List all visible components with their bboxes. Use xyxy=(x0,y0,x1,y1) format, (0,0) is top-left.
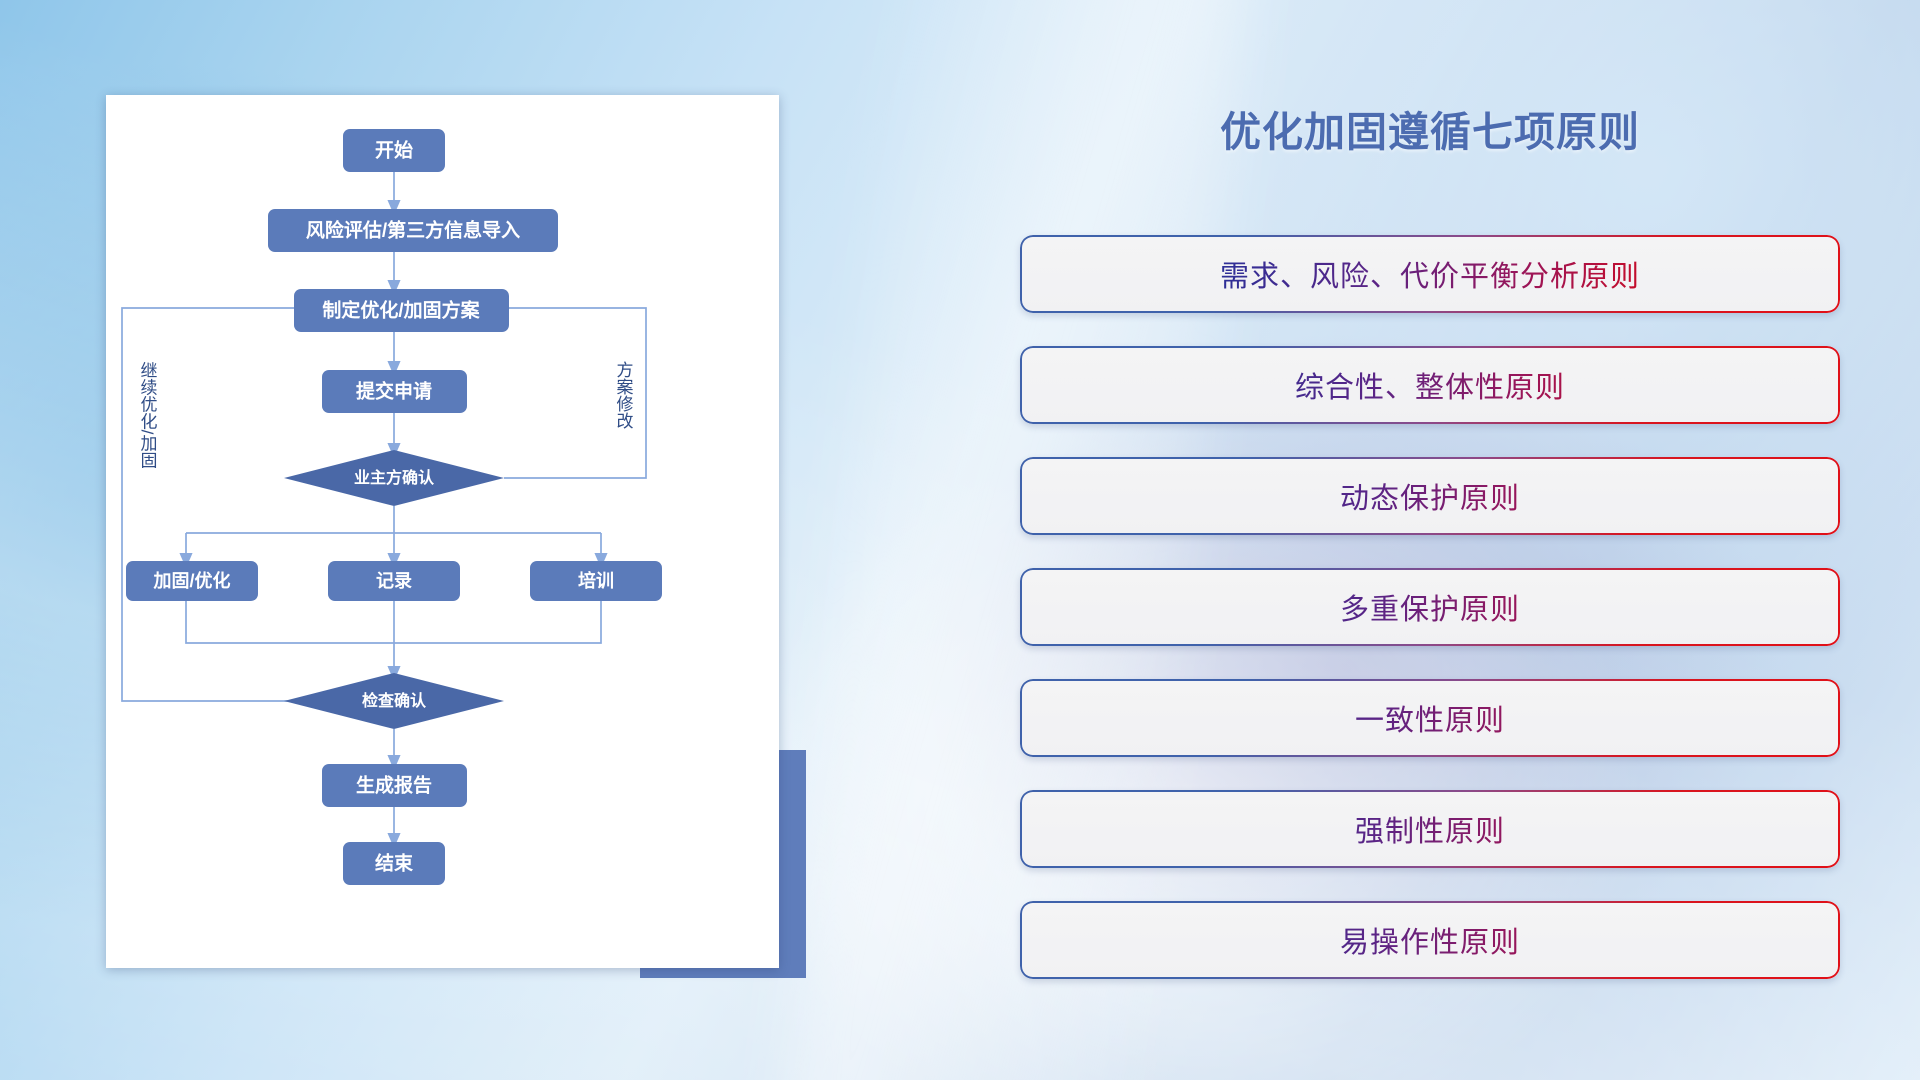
page-title: 优化加固遵循七项原则 xyxy=(1020,98,1840,158)
flow-node-end-label: 结束 xyxy=(375,852,414,875)
flow-node-risk-assessment-label: 风险评估/第三方信息导入 xyxy=(306,219,520,242)
flowchart-diagram: 开始 风险评估/第三方信息导入 制定优化/加固方案 提交申请 业主方确认 加固/… xyxy=(106,95,779,968)
flow-edge-label-continue-optimize: 继续优化/加固 xyxy=(138,362,158,469)
flow-node-start-label: 开始 xyxy=(375,139,413,162)
flow-node-submit-application-label: 提交申请 xyxy=(356,380,432,403)
flow-node-reinforce-optimize-label: 加固/优化 xyxy=(152,570,230,591)
principle-card[interactable]: 多重保护原则 xyxy=(1020,568,1840,646)
principle-card-label: 动态保护原则 xyxy=(1020,457,1840,535)
flow-node-risk-assessment[interactable]: 风险评估/第三方信息导入 xyxy=(268,209,558,252)
flow-node-generate-report[interactable]: 生成报告 xyxy=(322,764,467,807)
flow-node-record-label: 记录 xyxy=(376,571,412,591)
principle-card[interactable]: 综合性、整体性原则 xyxy=(1020,346,1840,424)
principle-card-label: 多重保护原则 xyxy=(1020,568,1840,646)
flow-node-owner-confirm-label: 业主方确认 xyxy=(354,468,435,487)
flow-node-make-plan[interactable]: 制定优化/加固方案 xyxy=(294,289,509,332)
principle-card[interactable]: 一致性原则 xyxy=(1020,679,1840,757)
flow-edge-label-plan-revise: 方案修改 xyxy=(614,361,634,429)
principle-card-label: 易操作性原则 xyxy=(1020,901,1840,979)
principles-card-list: 需求、风险、代价平衡分析原则 综合性、整体性原则 动态保护原则 多重保护原则 一… xyxy=(1020,235,1840,1012)
principle-card[interactable]: 易操作性原则 xyxy=(1020,901,1840,979)
flow-node-reinforce-optimize[interactable]: 加固/优化 xyxy=(126,561,258,601)
principle-card-label: 一致性原则 xyxy=(1020,679,1840,757)
principle-card[interactable]: 强制性原则 xyxy=(1020,790,1840,868)
principle-card[interactable]: 需求、风险、代价平衡分析原则 xyxy=(1020,235,1840,313)
flow-node-end[interactable]: 结束 xyxy=(343,842,445,885)
principle-card[interactable]: 动态保护原则 xyxy=(1020,457,1840,535)
flow-node-generate-report-label: 生成报告 xyxy=(356,774,432,797)
flowchart-panel: 开始 风险评估/第三方信息导入 制定优化/加固方案 提交申请 业主方确认 加固/… xyxy=(106,95,779,968)
flow-node-check-confirm[interactable]: 检查确认 xyxy=(284,673,504,729)
flow-node-make-plan-label: 制定优化/加固方案 xyxy=(322,299,480,322)
flow-node-owner-confirm[interactable]: 业主方确认 xyxy=(284,450,504,506)
flow-node-training[interactable]: 培训 xyxy=(530,561,662,601)
principle-card-label: 需求、风险、代价平衡分析原则 xyxy=(1020,235,1840,313)
flow-node-record[interactable]: 记录 xyxy=(328,561,460,601)
flow-node-start[interactable]: 开始 xyxy=(343,129,445,172)
flow-node-check-confirm-label: 检查确认 xyxy=(362,691,427,710)
principle-card-label: 综合性、整体性原则 xyxy=(1020,346,1840,424)
principles-panel: 优化加固遵循七项原则 需求、风险、代价平衡分析原则 综合性、整体性原则 动态保护… xyxy=(1020,70,1840,1030)
principle-card-label: 强制性原则 xyxy=(1020,790,1840,868)
flow-node-submit-application[interactable]: 提交申请 xyxy=(322,370,467,413)
flow-node-training-label: 培训 xyxy=(578,570,614,591)
